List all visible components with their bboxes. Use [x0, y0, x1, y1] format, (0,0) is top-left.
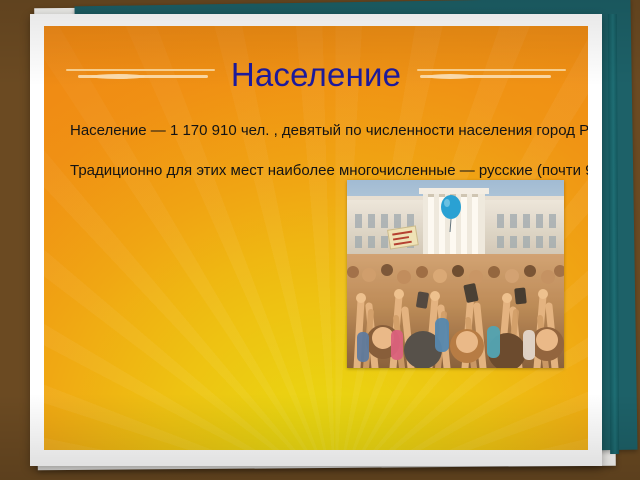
- body-line-2: Традиционно для этих мест наиболее много…: [70, 162, 588, 180]
- body-line-1: Население — 1 170 910 чел. , девятый по …: [70, 122, 588, 140]
- crowd-photo: [347, 180, 564, 368]
- crowd-photo-graphic: [347, 180, 564, 368]
- body-copy: Население — 1 170 910 чел. , девятый по …: [70, 122, 588, 180]
- title-rule-right-icon: [417, 66, 576, 82]
- slide-canvas: Население Население — 1 170 910 чел. , д…: [44, 26, 588, 450]
- page-title: Население: [225, 58, 407, 91]
- title-band: Население: [44, 26, 588, 122]
- slide-stage: Население Население — 1 170 910 чел. , д…: [0, 0, 640, 480]
- title-rule-left-icon: [56, 66, 215, 82]
